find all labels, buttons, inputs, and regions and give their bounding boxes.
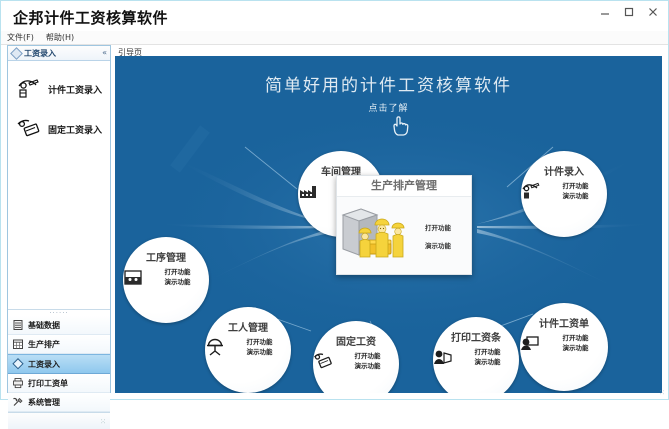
center-open-link[interactable]: 打开功能 bbox=[425, 222, 451, 232]
sidebar-item-label: 计件工资录入 bbox=[48, 83, 102, 96]
node-demo-link[interactable]: 演示功能 bbox=[475, 359, 501, 366]
print-user-icon bbox=[452, 347, 472, 367]
node-title: 计件工资单 bbox=[520, 315, 608, 330]
sidebar-header: 工资录入 « bbox=[8, 46, 110, 61]
sidebar-item-basic-data[interactable]: 基础数据 bbox=[8, 316, 110, 335]
sidebar-footer: ⁙ bbox=[8, 412, 110, 429]
hand-card-icon bbox=[332, 351, 352, 371]
diamond-icon bbox=[10, 47, 23, 60]
node-demo-link[interactable]: 演示功能 bbox=[247, 349, 273, 356]
sidebar-item-piecework-entry[interactable]: 计件工资录入 bbox=[16, 77, 110, 101]
node-links: 打开功能 演示功能 bbox=[563, 183, 589, 200]
close-icon[interactable] bbox=[646, 5, 660, 19]
main-panel: 引导页 bbox=[115, 45, 662, 393]
node-piecework-entry[interactable]: 计件录入 打开功能 演示功能 bbox=[521, 151, 607, 237]
title-bar: 企邦计件工资核算软件 bbox=[1, 1, 668, 31]
sidebar-item-label: 固定工资录入 bbox=[48, 123, 102, 136]
minimize-icon[interactable] bbox=[598, 5, 612, 19]
sidebar-header-title: 工资录入 bbox=[24, 48, 56, 59]
node-row: 打开功能 演示功能 bbox=[433, 347, 519, 367]
node-title: 工人管理 bbox=[205, 319, 291, 334]
sidebar-item-production-schedule[interactable]: 生产排产 bbox=[8, 335, 110, 354]
printer-icon bbox=[12, 377, 24, 389]
center-demo-link[interactable]: 演示功能 bbox=[425, 240, 451, 250]
sidebar: 工资录入 « 计件工资录入 bbox=[7, 45, 111, 393]
node-row: 打开功能 演示功能 bbox=[205, 337, 291, 357]
sidebar-nav: ······ 基础数据 生产排产 工资录入 bbox=[8, 310, 110, 412]
sidebar-body: 计件工资录入 固定工资录入 bbox=[8, 61, 110, 310]
sidebar-item-salary-entry[interactable]: 工资录入 bbox=[8, 354, 110, 374]
workshop-icon bbox=[142, 267, 162, 287]
factory-icon bbox=[317, 181, 337, 201]
node-open-link[interactable]: 打开功能 bbox=[247, 339, 273, 346]
stage-title: 简单好用的计件工资核算软件 bbox=[115, 71, 662, 96]
sidebar-item-label: 基础数据 bbox=[28, 320, 60, 331]
tab-strip: 引导页 bbox=[115, 45, 662, 59]
guide-stage: 简单好用的计件工资核算软件 点击了解 车间管理 打开功能 演示功能 bbox=[115, 59, 662, 393]
hand-write-icon bbox=[16, 77, 42, 101]
menu-help[interactable]: 帮助(H) bbox=[40, 31, 80, 44]
node-demo-link[interactable]: 演示功能 bbox=[165, 279, 191, 286]
workers-production-icon bbox=[339, 201, 423, 271]
sidebar-item-label: 生产排产 bbox=[28, 339, 60, 350]
center-card-title: 生产排产管理 bbox=[337, 176, 471, 197]
node-process-management[interactable]: 工序管理 打开功能 演示功能 bbox=[123, 237, 209, 323]
node-demo-link[interactable]: 演示功能 bbox=[563, 345, 589, 352]
node-links: 打开功能 演示功能 bbox=[563, 335, 589, 352]
pointing-hand-icon bbox=[388, 113, 414, 139]
node-row: 打开功能 演示功能 bbox=[313, 351, 399, 371]
collapse-icon[interactable]: « bbox=[102, 48, 107, 57]
window-controls bbox=[598, 5, 660, 19]
node-open-link[interactable]: 打开功能 bbox=[563, 183, 589, 190]
node-worker-management[interactable]: 工人管理 打开功能 演示功能 bbox=[205, 307, 291, 393]
maximize-icon[interactable] bbox=[622, 5, 636, 19]
node-links: 打开功能 演示功能 bbox=[355, 353, 381, 370]
node-title: 工序管理 bbox=[123, 249, 209, 264]
hand-write-icon bbox=[540, 181, 560, 201]
center-card-body: 打开功能 演示功能 bbox=[337, 197, 471, 274]
window-resize-grip[interactable]: ⁙ bbox=[659, 389, 665, 397]
node-print-payslip-strip[interactable]: 打印工资条 打开功能 演示功能 bbox=[433, 317, 519, 393]
node-demo-link[interactable]: 演示功能 bbox=[355, 363, 381, 370]
hand-card-icon bbox=[16, 117, 42, 141]
app-title: 企邦计件工资核算软件 bbox=[13, 7, 168, 28]
node-row: 打开功能 演示功能 bbox=[521, 181, 607, 201]
node-open-link[interactable]: 打开功能 bbox=[563, 335, 589, 342]
sidebar-item-system-management[interactable]: 系统管理 bbox=[8, 393, 110, 412]
menu-bar: 文件(F) 帮助(H) bbox=[1, 31, 668, 45]
monitor-icon bbox=[540, 333, 560, 353]
tools-icon bbox=[12, 396, 24, 408]
node-open-link[interactable]: 打开功能 bbox=[475, 349, 501, 356]
resize-grip-icon[interactable]: ⁙ bbox=[100, 418, 106, 426]
node-links: 打开功能 演示功能 bbox=[165, 269, 191, 286]
node-open-link[interactable]: 打开功能 bbox=[165, 269, 191, 276]
center-card-links: 打开功能 演示功能 bbox=[425, 222, 451, 250]
menu-file[interactable]: 文件(F) bbox=[1, 31, 40, 44]
sidebar-item-fixed-salary-entry[interactable]: 固定工资录入 bbox=[16, 117, 110, 141]
node-demo-link[interactable]: 演示功能 bbox=[563, 193, 589, 200]
node-links: 打开功能 演示功能 bbox=[475, 349, 501, 366]
sidebar-item-print-payslip[interactable]: 打印工资单 bbox=[8, 374, 110, 393]
sidebar-item-label: 打印工资单 bbox=[28, 378, 68, 389]
center-card-production-schedule[interactable]: 生产排产管理 bbox=[336, 175, 472, 275]
application-window: 企邦计件工资核算软件 文件(F) 帮助(H) 工资录入 « bbox=[0, 0, 669, 400]
node-piecework-payslip[interactable]: 计件工资单 打开功能 演示功能 bbox=[520, 303, 608, 391]
node-title: 固定工资 bbox=[313, 333, 399, 348]
calendar-icon bbox=[12, 338, 24, 350]
node-open-link[interactable]: 打开功能 bbox=[355, 353, 381, 360]
sidebar-item-label: 工资录入 bbox=[28, 359, 60, 370]
node-row: 打开功能 演示功能 bbox=[123, 267, 209, 287]
worker-icon bbox=[224, 337, 244, 357]
database-icon bbox=[12, 319, 24, 331]
node-title: 打印工资条 bbox=[433, 329, 519, 344]
diamond-icon bbox=[12, 358, 24, 370]
node-title: 计件录入 bbox=[521, 163, 607, 178]
node-links: 打开功能 演示功能 bbox=[247, 339, 273, 356]
node-row: 打开功能 演示功能 bbox=[520, 333, 608, 353]
sidebar-item-label: 系统管理 bbox=[28, 397, 60, 408]
